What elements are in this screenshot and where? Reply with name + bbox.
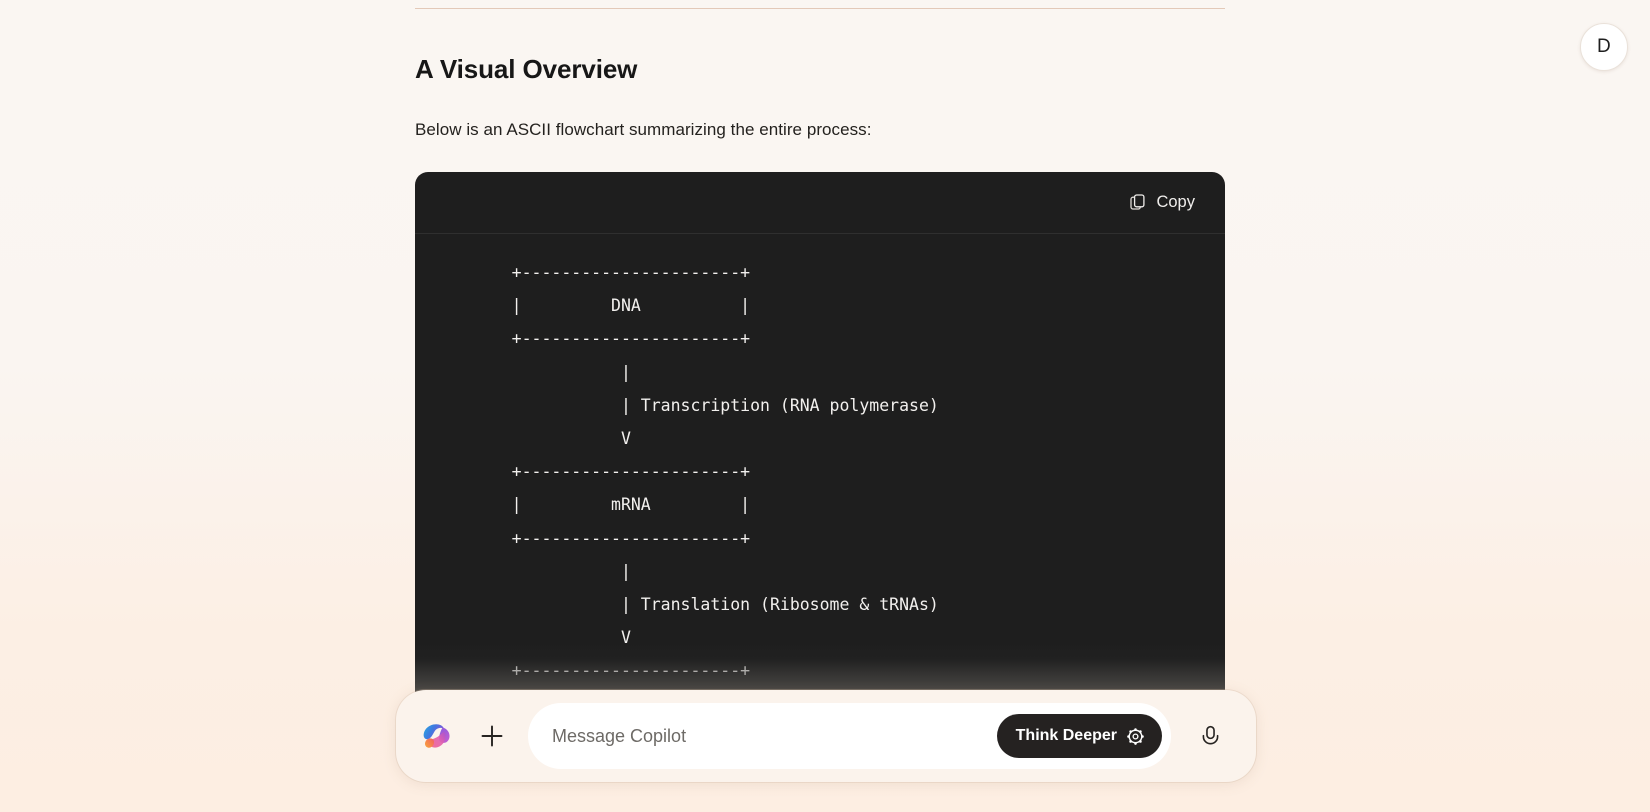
message-input[interactable]: [552, 703, 997, 769]
plus-icon: [479, 723, 505, 749]
copilot-logo-icon[interactable]: [420, 719, 454, 753]
avatar[interactable]: D: [1580, 23, 1628, 71]
code-block: Copy +----------------------+ | DNA | +-…: [415, 172, 1225, 737]
copy-button-label: Copy: [1156, 193, 1195, 212]
think-deeper-button[interactable]: Think Deeper: [997, 714, 1162, 758]
message-input-shell: Think Deeper: [528, 703, 1171, 769]
microphone-icon: [1198, 724, 1223, 749]
account-area: D: [1580, 23, 1628, 71]
code-block-header: Copy: [415, 172, 1225, 234]
avatar-initial: D: [1597, 36, 1611, 58]
copy-button[interactable]: Copy: [1122, 187, 1203, 218]
intro-paragraph: Below is an ASCII flowchart summarizing …: [415, 120, 1225, 140]
ascii-flowchart: +----------------------+ | DNA | +------…: [415, 256, 1225, 737]
voice-input-button[interactable]: [1187, 713, 1233, 759]
copy-icon: [1130, 194, 1147, 212]
conversation-content: A Visual Overview Below is an ASCII flow…: [415, 0, 1225, 737]
page-title: A Visual Overview: [415, 54, 1225, 85]
add-attachment-button[interactable]: [470, 714, 514, 758]
composer-bar: Think Deeper: [396, 690, 1256, 782]
gear-icon: [1126, 727, 1145, 746]
code-block-body[interactable]: +----------------------+ | DNA | +------…: [415, 234, 1225, 737]
section-divider: [415, 8, 1225, 9]
think-deeper-label: Think Deeper: [1016, 727, 1117, 745]
